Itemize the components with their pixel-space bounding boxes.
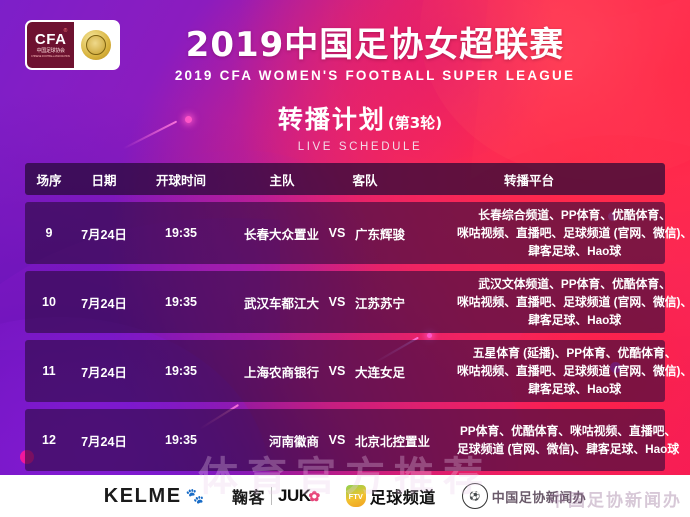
cell-match-no: 9 <box>25 202 73 264</box>
table-header-row: 场序 日期 开球时间 主队 客队 转播平台 <box>25 163 665 195</box>
column-header-time: 开球时间 <box>135 170 227 189</box>
sponsor-football-channel: FTV 足球频道 <box>346 482 436 510</box>
table-body: 97月24日19:35长春大众置业VS广东辉骏长春综合频道、PP体育、优酷体育、… <box>25 202 665 471</box>
cell-kickoff-time: 19:35 <box>135 202 227 264</box>
cell-vs-label: VS <box>322 340 352 402</box>
column-header-away: 客队 <box>337 170 393 189</box>
platform-line: PP体育、优酷体育、咪咕视频、直播吧、 <box>460 422 676 440</box>
cell-date: 7月24日 <box>73 340 135 402</box>
platform-line: 咪咕视频、直播吧、足球频道 (官网、微信)、 <box>457 224 690 242</box>
cell-away-team: 广东辉骏 <box>352 202 451 264</box>
football-channel-wordmark: 足球频道 <box>370 484 436 508</box>
cell-platforms: 长春综合频道、PP体育、优酷体育、咪咕视频、直播吧、足球频道 (官网、微信)、肆… <box>451 202 690 264</box>
cell-kickoff-time: 19:35 <box>135 409 227 471</box>
table-row: 97月24日19:35长春大众置业VS广东辉骏长春综合频道、PP体育、优酷体育、… <box>25 202 665 264</box>
cell-home-team: 长春大众置业 <box>227 202 322 264</box>
subtitle-round-badge: (第3轮) <box>388 112 442 133</box>
ftv-shield-icon: FTV <box>346 485 366 507</box>
cell-date: 7月24日 <box>73 409 135 471</box>
cell-platforms: PP体育、优酷体育、咪咕视频、直播吧、足球频道 (官网、微信)、肆客足球、Hao… <box>451 409 685 471</box>
page-title-chinese: 2019中国足协女超联赛 <box>60 28 690 64</box>
cfa-news-circle-icon: ⚽ <box>462 483 488 509</box>
kelme-logo: KELME 🐾 <box>104 485 206 508</box>
subtitle-english: LIVE SCHEDULE <box>30 141 690 153</box>
schedule-table: 场序 日期 开球时间 主队 客队 转播平台 97月24日19:35长春大众置业V… <box>25 163 665 478</box>
platform-line: 肆客足球、Hao球 <box>528 311 621 329</box>
table-row: 107月24日19:35武汉车都江大VS江苏苏宁武汉文体频道、PP体育、优酷体育… <box>25 271 665 333</box>
sponsor-kelme: KELME 🐾 <box>104 482 206 510</box>
cell-home-team: 河南徽商 <box>227 409 322 471</box>
cell-vs-label: VS <box>322 202 352 264</box>
platform-line-group: PP体育、优酷体育、咪咕视频、直播吧、足球频道 (官网、微信)、肆客足球、Hao… <box>457 422 679 459</box>
cfa-news-wordmark: 中国足协新闻办 <box>492 487 587 506</box>
platform-line: 咪咕视频、直播吧、足球频道 (官网、微信)、 <box>457 362 690 380</box>
column-header-no: 场序 <box>25 170 73 189</box>
cell-match-no: 12 <box>25 409 73 471</box>
flower-icon: ✿ <box>309 488 320 505</box>
column-header-home: 主队 <box>227 170 337 189</box>
platform-line: 咪咕视频、直播吧、足球频道 (官网、微信)、 <box>457 293 690 311</box>
cell-away-team: 大连女足 <box>352 340 451 402</box>
kelme-wordmark: KELME <box>104 485 182 508</box>
cell-kickoff-time: 19:35 <box>135 271 227 333</box>
juke-chinese-wordmark: 鞠客 <box>232 484 265 508</box>
juke-en-text: JUK <box>278 486 311 506</box>
cell-platforms: 武汉文体频道、PP体育、优酷体育、咪咕视频、直播吧、足球频道 (官网、微信)、肆… <box>451 271 690 333</box>
platform-line: 肆客足球、Hao球 <box>528 242 621 260</box>
cell-home-team: 上海农商银行 <box>227 340 322 402</box>
poster-canvas: ® CFA 中国足球协会 CHINESE FOOTBALL ASSOCIATIO… <box>0 0 690 517</box>
table-row: 117月24日19:35上海农商银行VS大连女足五星体育 (延播)、PP体育、优… <box>25 340 665 402</box>
cell-date: 7月24日 <box>73 202 135 264</box>
sponsor-cfa-news: ⚽ 中国足协新闻办 <box>462 482 587 510</box>
cell-date: 7月24日 <box>73 271 135 333</box>
sponsor-juke: 鞠客 JUK ✿ <box>232 482 320 510</box>
cell-match-no: 11 <box>25 340 73 402</box>
subtitle-row: 转播计划 (第3轮) <box>30 100 690 136</box>
sponsor-footer: KELME 🐾 鞠客 JUK ✿ FTV 足球频道 ⚽ 中国足协新闻办 <box>0 475 690 517</box>
header-subtitle-block: 转播计划 (第3轮) LIVE SCHEDULE <box>0 100 690 153</box>
platform-line-group: 武汉文体频道、PP体育、优酷体育、咪咕视频、直播吧、足球频道 (官网、微信)、肆… <box>457 275 690 330</box>
header-title-block: 2019中国足协女超联赛 2019 CFA WOMEN'S FOOTBALL S… <box>0 28 690 83</box>
subtitle-chinese: 转播计划 <box>278 100 386 136</box>
column-header-platform: 转播平台 <box>393 170 665 189</box>
platform-line-group: 五星体育 (延播)、PP体育、优酷体育、咪咕视频、直播吧、足球频道 (官网、微信… <box>457 344 690 399</box>
platform-line: 长春综合频道、PP体育、优酷体育、 <box>478 206 671 224</box>
juke-english-wordmark: JUK ✿ <box>278 486 320 506</box>
cell-platforms: 五星体育 (延播)、PP体育、优酷体育、咪咕视频、直播吧、足球频道 (官网、微信… <box>451 340 690 402</box>
platform-line-group: 长春综合频道、PP体育、优酷体育、咪咕视频、直播吧、足球频道 (官网、微信)、肆… <box>457 206 690 261</box>
cell-match-no: 10 <box>25 271 73 333</box>
juke-divider <box>271 487 272 505</box>
column-header-date: 日期 <box>73 170 135 189</box>
cell-kickoff-time: 19:35 <box>135 340 227 402</box>
cell-home-team: 武汉车都江大 <box>227 271 322 333</box>
platform-line: 肆客足球、Hao球 <box>528 380 621 398</box>
platform-line: 武汉文体频道、PP体育、优酷体育、 <box>478 275 671 293</box>
cell-away-team: 江苏苏宁 <box>352 271 451 333</box>
table-row: 127月24日19:35河南徽商VS北京北控置业PP体育、优酷体育、咪咕视频、直… <box>25 409 665 471</box>
cell-vs-label: VS <box>322 409 352 471</box>
cell-vs-label: VS <box>322 271 352 333</box>
platform-line: 五星体育 (延播)、PP体育、优酷体育、 <box>473 344 677 362</box>
platform-line: 足球频道 (官网、微信)、肆客足球、Hao球 <box>457 440 679 458</box>
paw-print-icon: 🐾 <box>186 487 206 505</box>
page-title-english: 2019 CFA WOMEN'S FOOTBALL SUPER LEAGUE <box>60 68 690 83</box>
cell-away-team: 北京北控置业 <box>352 409 451 471</box>
